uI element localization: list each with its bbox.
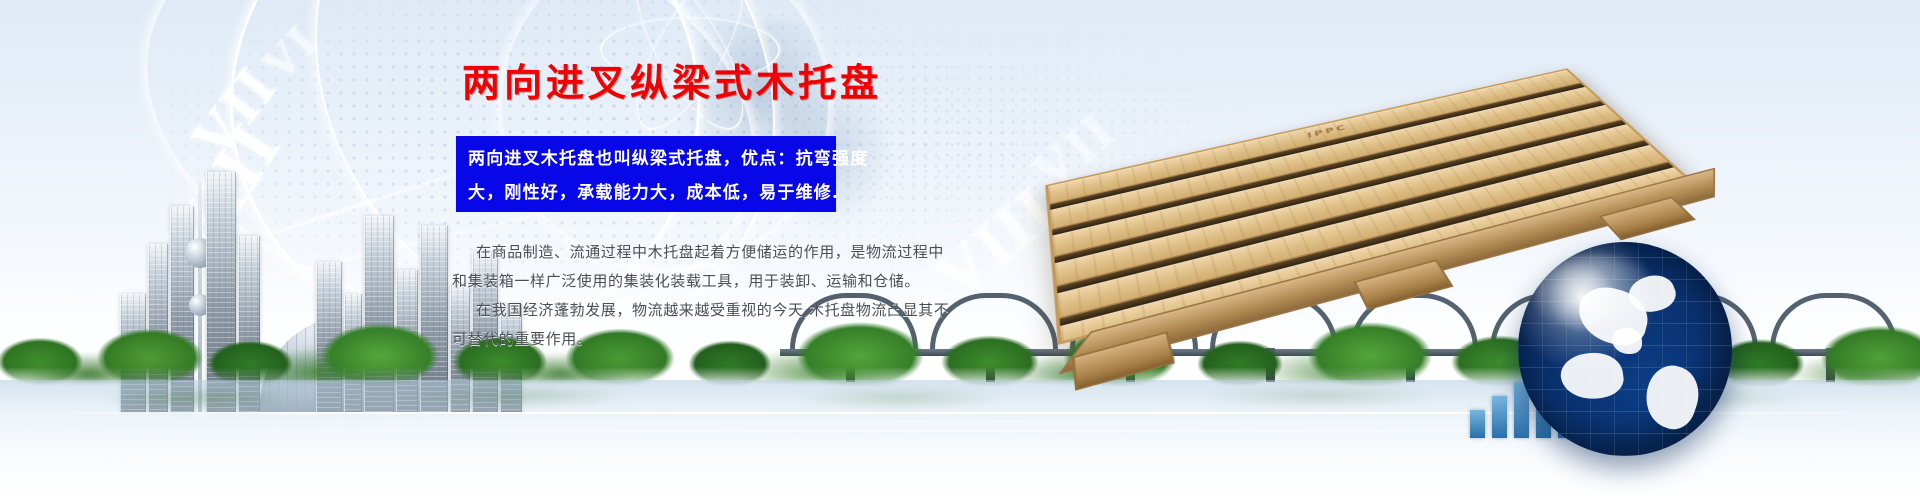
highlight-callout-box: 两向进叉木托盘也叫纵梁式托盘，优点：抗弯强度 大，刚性好，承载能力大，成本低，易… [456, 136, 836, 212]
highlight-line: 大，刚性好，承载能力大，成本低，易于维修. [468, 176, 826, 210]
banner-title: 两向进叉纵梁式木托盘 [462, 52, 882, 107]
paragraph-line: 在商品制造、流通过程中木托盘起着方便储运的作用，是物流过程中 [452, 238, 872, 267]
product-banner: VIII VII VIII VII VI [0, 0, 1920, 500]
paragraph-line: 在我国经济蓬勃发展，物流越来越受重视的今天,木托盘物流凸显其不 [452, 296, 872, 325]
highlight-line: 两向进叉木托盘也叫纵梁式托盘，优点：抗弯强度 [468, 142, 826, 176]
paragraph-line: 和集装箱一样广泛使用的集装化装载工具，用于装卸、运输和仓储。 [452, 267, 872, 296]
banner-content: 两向进叉纵梁式木托盘 两向进叉木托盘也叫纵梁式托盘，优点：抗弯强度 大，刚性好，… [0, 0, 1920, 500]
paragraph-line: 可替代的重要作用。 [452, 325, 872, 354]
description-paragraph: 在商品制造、流通过程中木托盘起着方便储运的作用，是物流过程中 和集装箱一样广泛使… [452, 238, 872, 354]
